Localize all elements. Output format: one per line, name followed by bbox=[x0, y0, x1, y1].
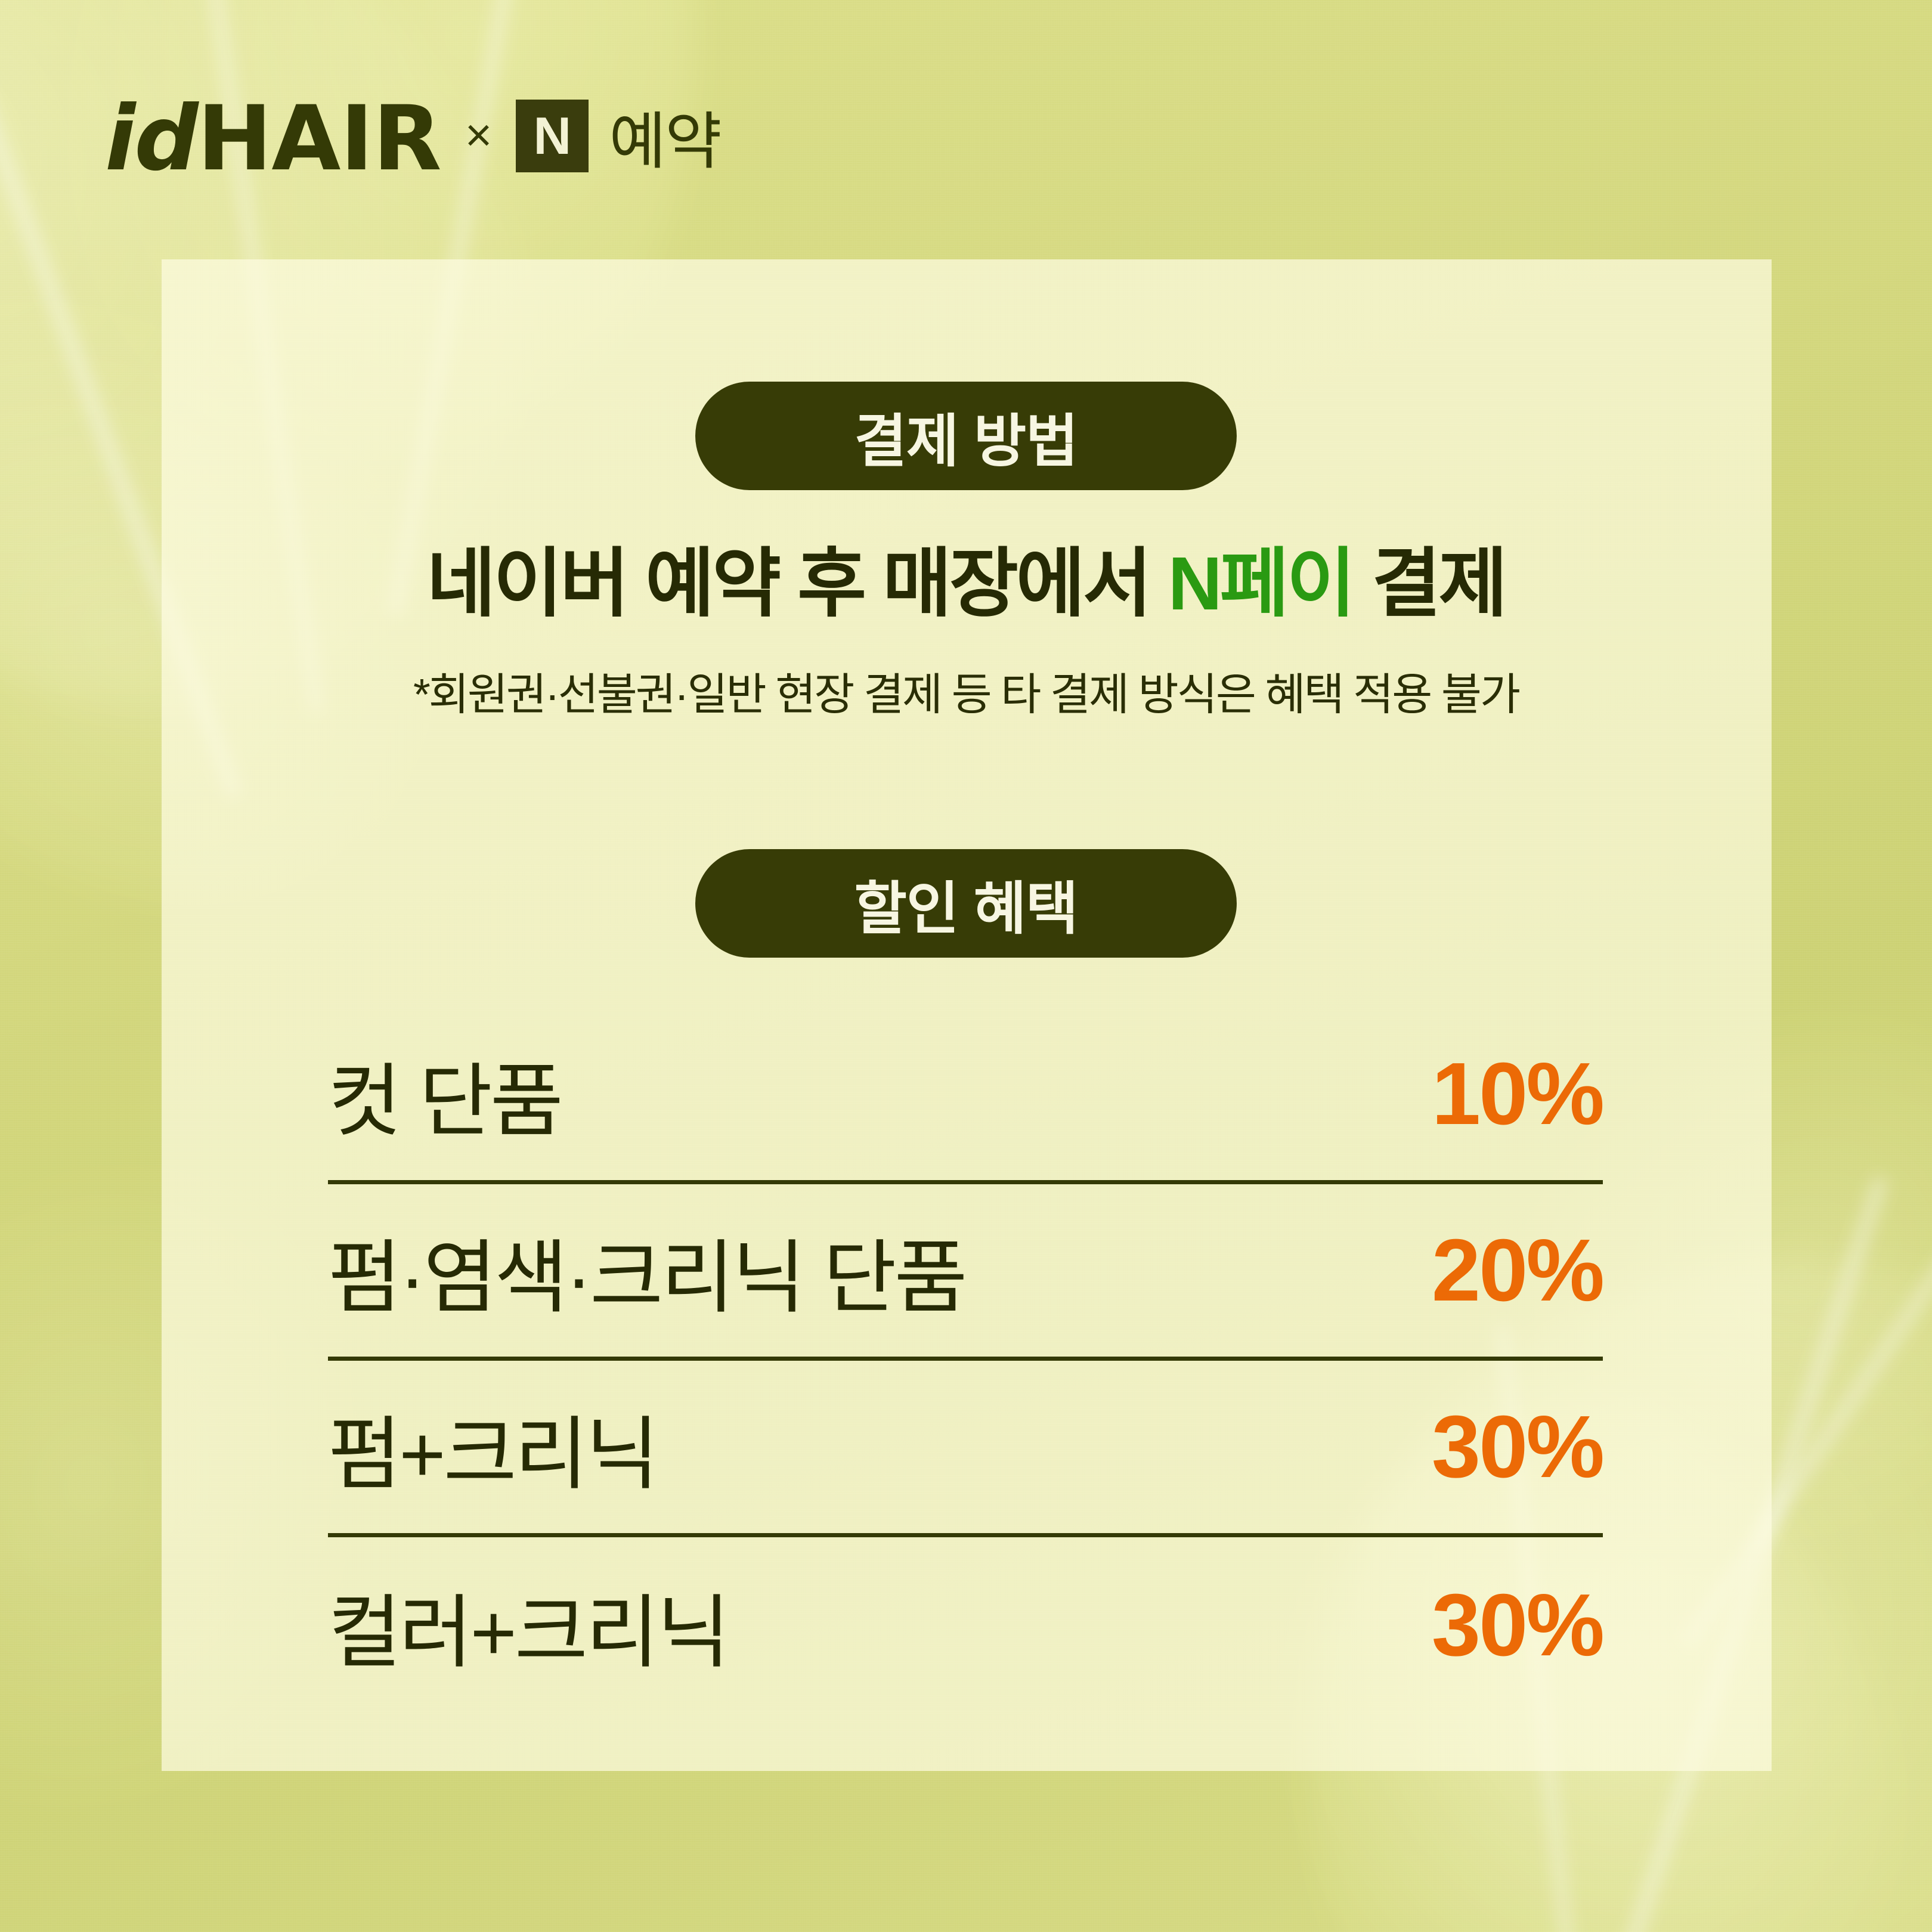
service-label: 펌+크리닉 bbox=[328, 1389, 657, 1505]
brand-lower: id bbox=[105, 94, 197, 184]
table-row: 컬러+크리닉 30% bbox=[328, 1537, 1603, 1714]
service-label: 펌·염색·크리닉 단품 bbox=[328, 1213, 965, 1329]
naver-booking-label: 예약 bbox=[609, 91, 720, 181]
discount-rate: 10% bbox=[1432, 1044, 1603, 1145]
payment-headline: 네이버 예약 후 매장에서 N페이 결제 bbox=[0, 543, 1932, 626]
table-row: 컷 단품 10% bbox=[328, 1008, 1603, 1184]
naver-logo-icon: N bbox=[516, 100, 589, 172]
discount-rate: 30% bbox=[1432, 1575, 1603, 1676]
discount-table: 컷 단품 10% 펌·염색·크리닉 단품 20% 펌+크리닉 30% 컬러+크리… bbox=[328, 1008, 1603, 1714]
headline-before: 네이버 예약 후 매장에서 bbox=[427, 541, 1168, 626]
service-label: 컷 단품 bbox=[328, 1036, 561, 1152]
table-row: 펌·염색·크리닉 단품 20% bbox=[328, 1184, 1603, 1361]
cross-icon: × bbox=[465, 108, 493, 162]
payment-method-badge: 결제 방법 bbox=[695, 382, 1237, 490]
idhair-logo: idHAIR bbox=[105, 94, 441, 184]
payment-disclaimer: *회원권·선불권·일반 현장 결제 등 타 결제 방식은 혜택 적용 불가 bbox=[0, 659, 1932, 723]
table-row: 펌+크리닉 30% bbox=[328, 1361, 1603, 1537]
discount-rate: 30% bbox=[1432, 1397, 1603, 1498]
logo-lockup: idHAIR × N 예약 bbox=[105, 91, 721, 187]
service-label: 컬러+크리닉 bbox=[328, 1568, 728, 1683]
promo-poster: idHAIR × N 예약 결제 방법 네이버 예약 후 매장에서 N페이 결제… bbox=[0, 0, 1932, 1932]
discount-benefit-badge: 할인 혜택 bbox=[695, 849, 1237, 958]
npay-highlight: N페이 bbox=[1168, 541, 1354, 626]
headline-after: 결제 bbox=[1354, 541, 1506, 626]
brand-upper: HAIR bbox=[197, 94, 441, 184]
discount-rate: 20% bbox=[1432, 1220, 1603, 1321]
